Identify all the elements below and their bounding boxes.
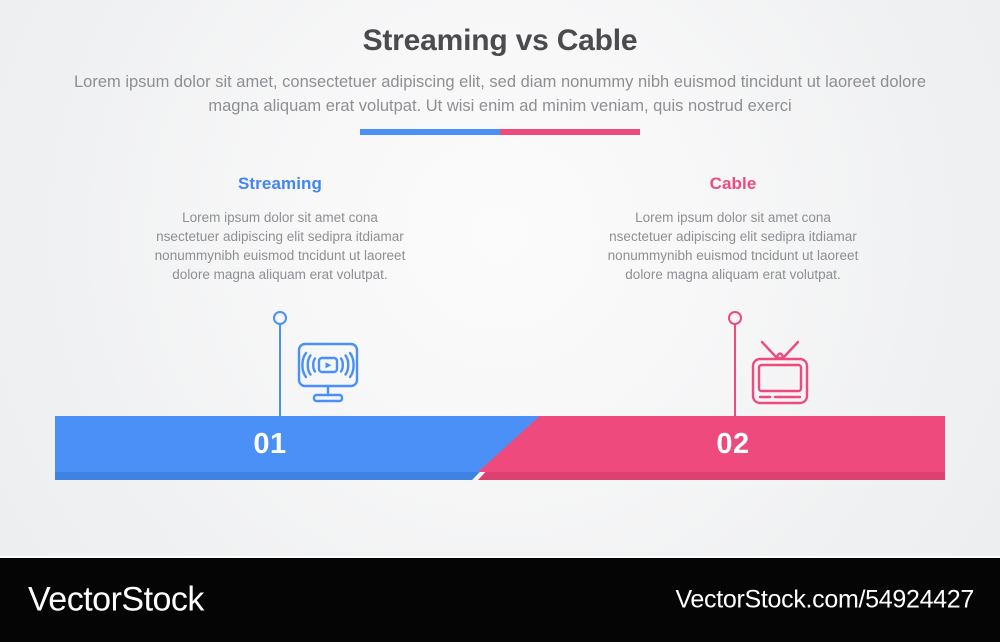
number-banner-streaming[interactable]: 01 bbox=[55, 416, 540, 480]
watermark-footer: VectorStock VectorStock.com/54924427 bbox=[0, 558, 1000, 642]
column-description-streaming: Lorem ipsum dolor sit amet cona nsectetu… bbox=[130, 208, 430, 284]
connector-dot-icon bbox=[273, 311, 287, 325]
retro-television-glyph bbox=[748, 338, 812, 408]
connector-stem bbox=[279, 325, 281, 428]
banner-shade bbox=[478, 472, 945, 480]
title-divider bbox=[360, 129, 640, 135]
banner-number-cable: 02 bbox=[518, 416, 948, 472]
vectorstock-url: VectorStock.com/54924427 bbox=[675, 586, 974, 615]
connector-stem bbox=[734, 325, 736, 428]
connector-streaming bbox=[272, 311, 288, 428]
column-heading-cable: Cable bbox=[583, 174, 883, 194]
vectorstock-logo: VectorStock bbox=[28, 581, 204, 620]
retro-television-icon bbox=[748, 338, 812, 413]
page-subtitle: Lorem ipsum dolor sit amet, consectetuer… bbox=[60, 70, 940, 118]
streaming-monitor-icon bbox=[294, 340, 362, 411]
number-banner-cable[interactable]: 02 bbox=[478, 416, 945, 480]
divider-segment-left bbox=[360, 129, 500, 135]
connector-cable bbox=[727, 311, 743, 428]
banner-number-streaming: 01 bbox=[55, 416, 485, 472]
column-heading-streaming: Streaming bbox=[130, 174, 430, 194]
banner-shade bbox=[55, 472, 540, 480]
number-banner-group: 01 02 bbox=[0, 416, 1000, 480]
column-streaming: Streaming Lorem ipsum dolor sit amet con… bbox=[130, 174, 430, 284]
infographic-canvas: Streaming vs Cable Lorem ipsum dolor sit… bbox=[0, 0, 1000, 642]
slide-area: Streaming vs Cable Lorem ipsum dolor sit… bbox=[0, 0, 1000, 556]
column-description-cable: Lorem ipsum dolor sit amet cona nsectetu… bbox=[583, 208, 883, 284]
connector-dot-icon bbox=[728, 311, 742, 325]
divider-segment-right bbox=[500, 129, 640, 135]
column-cable: Cable Lorem ipsum dolor sit amet cona ns… bbox=[583, 174, 883, 284]
streaming-monitor-glyph bbox=[294, 340, 362, 406]
page-title: Streaming vs Cable bbox=[0, 24, 1000, 58]
